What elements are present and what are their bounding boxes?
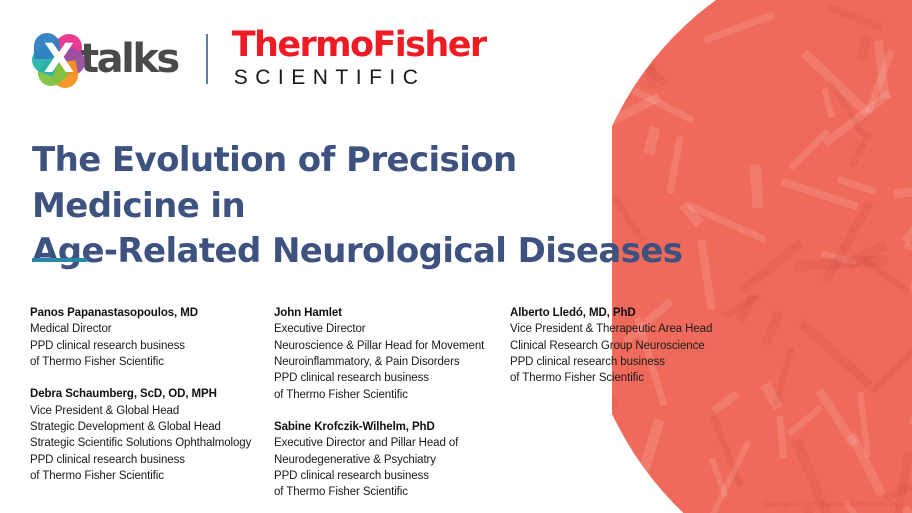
speaker-name: Sabine Krofczik-Wilhelm, PhD xyxy=(274,419,510,435)
speaker-detail-line: of Thermo Fisher Scientific xyxy=(510,370,750,386)
speaker-detail-line: Neuroinflammatory, & Pain Disorders xyxy=(274,354,510,370)
pattern-stick xyxy=(904,243,912,260)
speaker-detail-line: Vice President & Global Head xyxy=(30,403,274,419)
speaker-block: John HamletExecutive DirectorNeuroscienc… xyxy=(274,305,510,403)
xtalks-pinwheel-icon: X xyxy=(32,33,84,85)
pattern-stick xyxy=(612,506,661,513)
speaker-block: Panos Papanastasopoulos, MDMedical Direc… xyxy=(30,305,274,370)
pattern-stick xyxy=(894,183,912,199)
thermofisher-logo[interactable]: ThermoFisher SCIENTIFIC xyxy=(232,28,486,90)
speaker-block: Sabine Krofczik-Wilhelm, PhDExecutive Di… xyxy=(274,419,510,501)
speaker-detail-line: of Thermo Fisher Scientific xyxy=(30,354,274,370)
page-title: The Evolution of Precision Medicine in A… xyxy=(32,138,692,275)
speaker-column-2: John HamletExecutive DirectorNeuroscienc… xyxy=(274,305,510,501)
pattern-stick xyxy=(773,346,795,407)
pattern-stick xyxy=(849,131,873,168)
speaker-detail-line: PPD clinical research business xyxy=(274,370,510,386)
pattern-stick xyxy=(776,416,787,460)
pattern-stick xyxy=(617,0,627,60)
speaker-detail-line: Vice President & Therapeutic Area Head xyxy=(510,321,750,337)
speaker-name: Panos Papanastasopoulos, MD xyxy=(30,305,274,321)
thermofisher-wordmark: ThermoFisher xyxy=(232,28,486,64)
pattern-stick xyxy=(750,165,764,209)
speaker-detail-line: Neuroscience & Pillar Head for Movement xyxy=(274,338,510,354)
pattern-stick xyxy=(857,34,871,62)
speaker-name: John Hamlet xyxy=(274,305,510,321)
xtalks-wordmark: talks xyxy=(80,39,178,79)
xtalks-logo[interactable]: X talks xyxy=(32,31,178,87)
pattern-stick xyxy=(837,176,877,195)
pattern-stick xyxy=(821,88,834,118)
thermofisher-scientific-text: SCIENTIFIC xyxy=(232,65,486,90)
pattern-stick xyxy=(826,3,883,31)
speaker-detail-line: Executive Director xyxy=(274,321,510,337)
speaker-detail-line: of Thermo Fisher Scientific xyxy=(274,484,510,500)
pattern-stick xyxy=(900,175,912,245)
speaker-detail-line: PPD clinical research business xyxy=(274,468,510,484)
xtalks-x-letter: X xyxy=(32,33,84,85)
speaker-detail-line: Medical Director xyxy=(30,321,274,337)
speaker-block: Alberto Lledó, MD, PhDVice President & T… xyxy=(510,305,750,387)
pattern-stick xyxy=(798,319,874,389)
copyright-notice: Copyright © 2025 Honeycomb Worldwide Inc… xyxy=(764,501,900,508)
header-logos: X talks ThermoFisher SCIENTIFIC xyxy=(32,28,486,90)
title-accent-rule xyxy=(32,258,87,262)
speaker-detail-line: PPD clinical research business xyxy=(30,338,274,354)
speaker-name: Alberto Lledó, MD, PhD xyxy=(510,305,750,321)
pattern-stick xyxy=(871,334,912,394)
pattern-stick xyxy=(822,199,874,284)
speaker-detail-line: of Thermo Fisher Scientific xyxy=(274,387,510,403)
webinar-title-slide: X talks ThermoFisher SCIENTIFIC The Evol… xyxy=(0,0,912,513)
pattern-stick xyxy=(787,127,830,170)
speaker-column-3: Alberto Lledó, MD, PhDVice President & T… xyxy=(510,305,750,387)
logo-divider xyxy=(206,34,208,84)
speaker-detail-line: Strategic Scientific Solutions Ophthalmo… xyxy=(30,435,274,451)
speaker-detail-line: of Thermo Fisher Scientific xyxy=(30,468,274,484)
pattern-stick xyxy=(698,239,716,310)
speaker-detail-line: Executive Director and Pillar Head of xyxy=(274,435,510,451)
pattern-stick xyxy=(703,11,775,43)
speakers-section: Panos Papanastasopoulos, MDMedical Direc… xyxy=(30,305,770,501)
speaker-column-1: Panos Papanastasopoulos, MDMedical Direc… xyxy=(30,305,274,484)
pattern-stick xyxy=(815,389,857,447)
speaker-detail-line: PPD clinical research business xyxy=(30,452,274,468)
title-line-1: The Evolution of Precision Medicine in xyxy=(32,138,692,229)
title-line-2: Age-Related Neurological Diseases xyxy=(32,229,692,275)
pattern-stick xyxy=(787,405,823,436)
speaker-block: Debra Schaumberg, ScD, OD, MPHVice Presi… xyxy=(30,386,274,484)
speaker-detail-line: Clinical Research Group Neuroscience xyxy=(510,338,750,354)
speaker-detail-line: PPD clinical research business xyxy=(510,354,750,370)
speaker-detail-line: Strategic Development & Global Head xyxy=(30,419,274,435)
speaker-name: Debra Schaumberg, ScD, OD, MPH xyxy=(30,386,274,402)
speaker-detail-line: Neurodegenerative & Psychiatry xyxy=(274,452,510,468)
